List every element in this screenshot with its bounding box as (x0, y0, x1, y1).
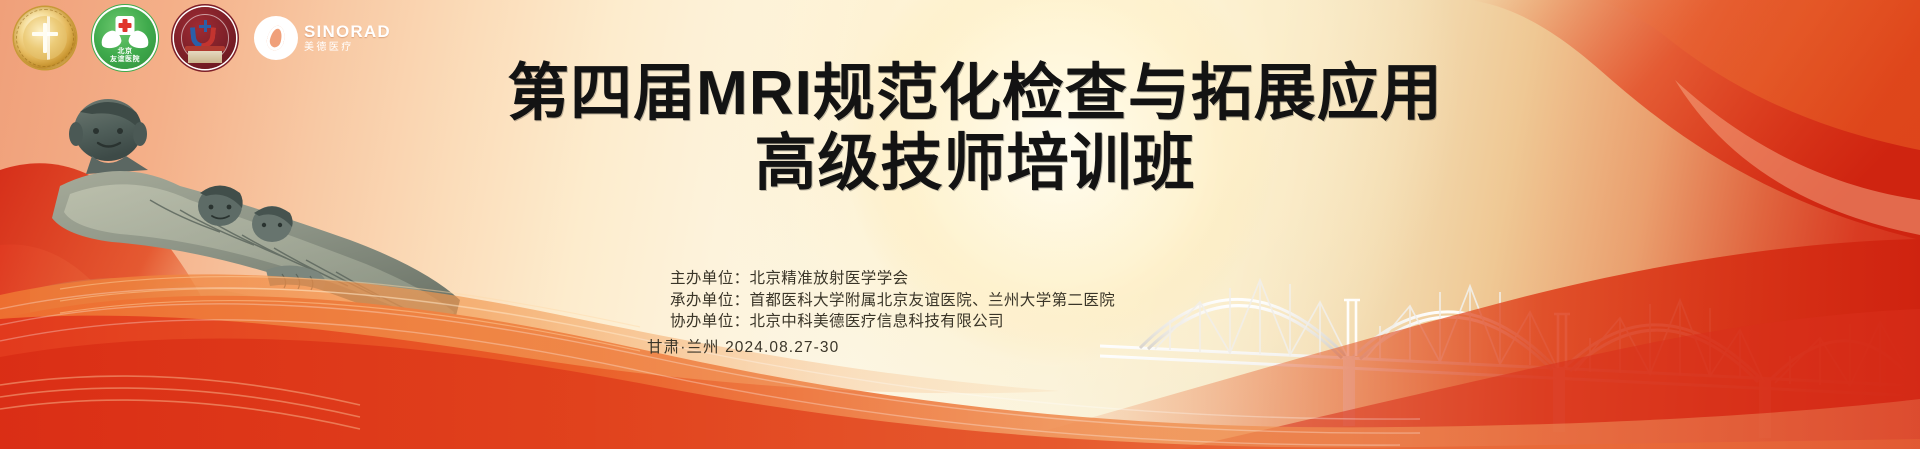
title-line-1: 第四届MRI规范化检查与拓展应用 (0, 60, 1920, 128)
banner-title: 第四届MRI规范化检查与拓展应用 高级技师培训班 (0, 60, 1920, 198)
beijing-precision-radiology-society-logo[interactable] (14, 7, 76, 69)
beijing-friendship-hospital-logo[interactable]: 北京 友谊医院 (94, 7, 156, 69)
sinorad-logo[interactable]: SINORAD 美德医疗 (254, 16, 391, 60)
undertaking-organizer: 承办单位：首都医科大学附属北京友谊医院、兰州大学第二医院 (670, 290, 1115, 312)
sinorad-subtitle: 美德医疗 (304, 43, 391, 53)
lanzhou-university-second-hospital-logo[interactable] (174, 7, 236, 69)
sinorad-wordmark: SINORAD (304, 23, 391, 40)
friendship-hospital-line1: 北京 (118, 48, 133, 55)
friendship-hospital-line2: 友谊医院 (110, 56, 140, 63)
partner-logos: 北京 友谊医院 SINORAD 美德医疗 (14, 6, 391, 70)
host-organizer: 主办单位：北京精准放射医学学会 (670, 268, 1115, 290)
conference-banner: 北京 友谊医院 SINORAD 美德医疗 第四届MRI规范化检查与拓展应用 (0, 0, 1920, 449)
co-organizer: 协办单位：北京中科美德医疗信息科技有限公司 (670, 311, 1115, 333)
sinorad-mark-icon (254, 16, 298, 60)
venue-and-date: 甘肃·兰州 2024.08.27-30 (647, 337, 1115, 359)
title-line-2: 高级技师培训班 (0, 130, 1920, 198)
organizer-info: 主办单位：北京精准放射医学学会 承办单位：首都医科大学附属北京友谊医院、兰州大学… (670, 268, 1115, 358)
